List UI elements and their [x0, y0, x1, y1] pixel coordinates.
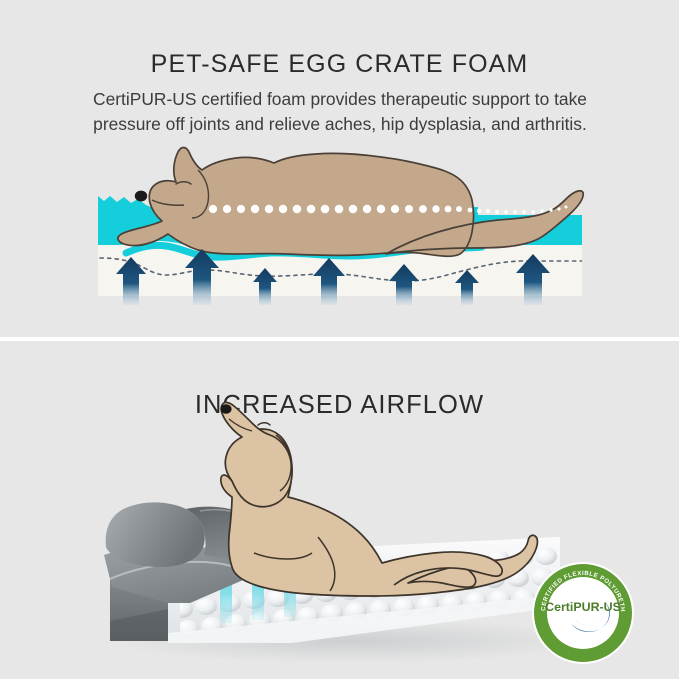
- badge-center-text: CertiPUR-US: [545, 600, 621, 614]
- certipur-us-seal: CertiPUR-US ® CONTAINS CERTIFIED FLEXIBL…: [531, 561, 635, 665]
- dog-silhouette: [118, 148, 583, 257]
- dog-nose: [220, 404, 231, 414]
- dog-nose: [135, 191, 147, 202]
- illustration-dog-lying-on-foam-cross-section: [0, 0, 679, 338]
- panel-pet-safe-egg-crate-foam: PET-SAFE EGG CRATE FOAM CertiPUR-US cert…: [0, 0, 679, 338]
- product-infographic: PET-SAFE EGG CRATE FOAM CertiPUR-US cert…: [0, 0, 679, 679]
- panel-increased-airflow: INCREASED AIRFLOW: [0, 341, 679, 679]
- dog-silhouette: [220, 402, 537, 596]
